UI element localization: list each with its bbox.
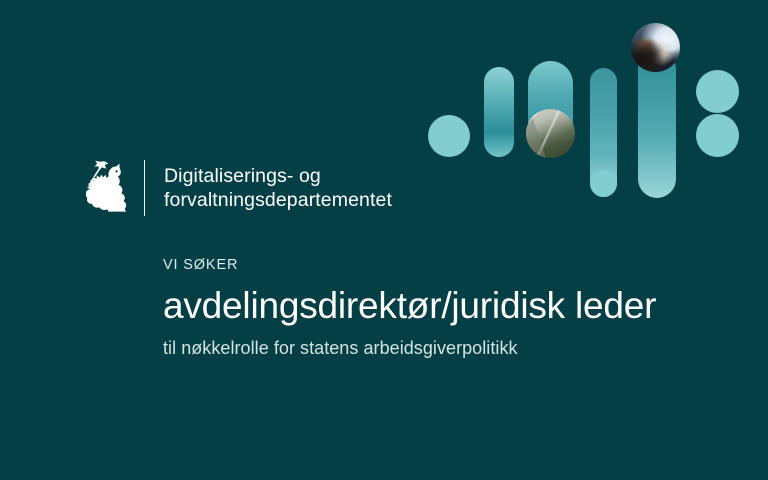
decor-pill-3: [528, 61, 573, 152]
decor-circle-6-top: [696, 70, 739, 113]
norwegian-coat-of-arms-icon: [86, 160, 130, 216]
job-subtitle: til nøkkelrolle for statens arbeidsgiver…: [163, 336, 723, 360]
recruitment-banner: Digitaliserings- og forvaltningsdepartem…: [0, 0, 768, 480]
logo-divider: [144, 160, 145, 216]
job-posting-text-block: VI SØKER avdelingsdirektør/juridisk lede…: [163, 256, 723, 360]
photo-bubble-architecture: [526, 109, 575, 158]
ministry-logo-lockup: Digitaliserings- og forvaltningsdepartem…: [86, 160, 392, 216]
ministry-name: Digitaliserings- og forvaltningsdepartem…: [164, 164, 392, 212]
job-title-headline: avdelingsdirektør/juridisk leder: [163, 283, 723, 329]
photo-bubble-meeting: [631, 23, 680, 72]
eyebrow-label: VI SØKER: [163, 256, 723, 274]
decor-circle-4-cap: [590, 170, 617, 197]
decor-circle-1: [428, 115, 470, 157]
decor-pill-5: [638, 50, 676, 198]
decor-pill-4: [590, 68, 617, 197]
decor-circle-6-bottom: [696, 114, 739, 157]
decor-pill-2: [484, 67, 514, 157]
